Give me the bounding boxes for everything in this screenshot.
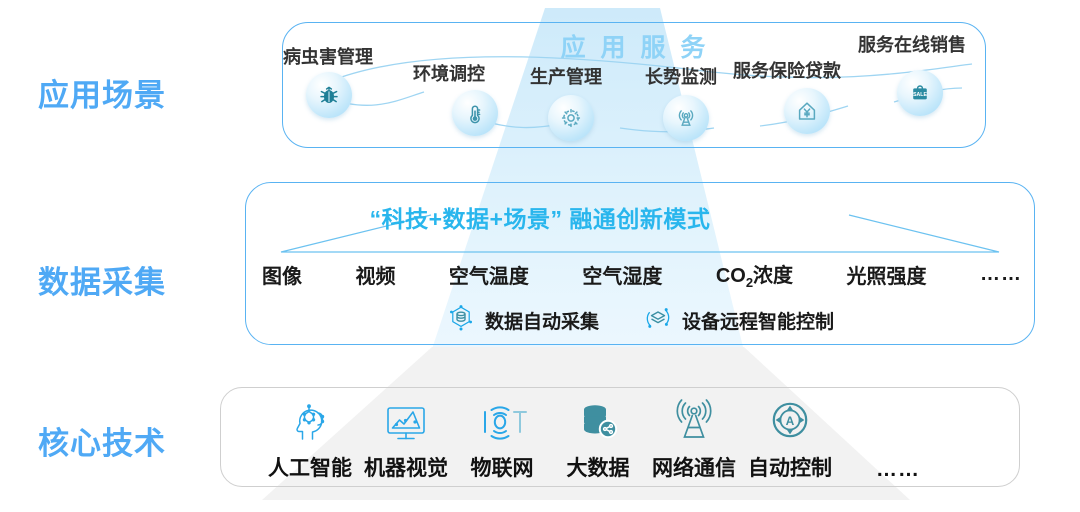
app-node-6-label: 服务在线销售 (858, 31, 966, 57)
tech-item-ai[interactable]: 人工智能 (262, 394, 358, 482)
data-feature-list: 数据自动采集 设备远程智能控制 (245, 300, 1035, 340)
data-item-ellipsis: …… (980, 263, 1022, 286)
tech-item-bigdata[interactable]: 大数据 (550, 394, 646, 482)
data-feature-1: 数据自动采集 (446, 303, 599, 338)
app-node-5-label: 服务保险贷款 (733, 57, 841, 83)
tech-item-autocontrol[interactable]: A 自动控制 (742, 394, 838, 482)
data-feature-1-label: 数据自动采集 (485, 307, 599, 334)
gear-icon (548, 95, 594, 141)
ai-head-icon (287, 394, 333, 446)
data-item: 视频 (355, 260, 395, 289)
tech-item-ellipsis: …… (838, 400, 958, 482)
tech-item-iot-label: 物联网 (471, 452, 534, 482)
tech-item-network[interactable]: 网络通信 (646, 394, 742, 482)
data-feature-2: 设备远程智能控制 (643, 303, 834, 338)
data-item-list: 图像 视频 空气温度 空气湿度 CO2浓度 光照强度 …… (262, 257, 1022, 291)
tech-item-vision[interactable]: 机器视觉 (358, 394, 454, 482)
tech-item-vision-label: 机器视觉 (364, 452, 448, 482)
tech-item-ellipsis-label: …… (876, 458, 920, 482)
data-item: 空气湿度 (582, 260, 662, 289)
svg-text:A: A (786, 414, 795, 428)
iot-icon (476, 394, 528, 446)
svg-text:SALE: SALE (913, 92, 927, 98)
row-label-data: 数据采集 (38, 257, 166, 302)
technology-item-list: 人工智能 机器视觉 (262, 396, 982, 482)
infographic-root: 应用场景 数据采集 核心技术 应 用 服 务 病虫害管理 (0, 0, 1080, 512)
data-item: 图像 (262, 260, 302, 289)
tech-item-bigdata-label: 大数据 (567, 452, 630, 482)
house-yuan-icon (784, 88, 830, 134)
data-panel-title: “科技+数据+场景” 融通创新模式 (0, 200, 1080, 234)
tech-item-ai-label: 人工智能 (268, 452, 352, 482)
signal-tower-icon (663, 95, 709, 141)
data-item-co2: CO2浓度 (716, 259, 793, 290)
row-label-technology: 核心技术 (38, 418, 166, 463)
row-label-application: 应用场景 (38, 70, 166, 115)
thermometer-icon (452, 90, 498, 136)
antenna-icon (668, 394, 720, 446)
bug-icon (306, 72, 352, 118)
app-node-1-label: 病虫害管理 (283, 43, 373, 69)
auto-control-icon: A (766, 394, 814, 446)
data-collect-icon (446, 303, 476, 338)
sale-tag-icon: SALE (897, 70, 943, 116)
tech-item-network-label: 网络通信 (652, 452, 736, 482)
data-item: 光照强度 (847, 260, 927, 289)
remote-layers-icon (643, 303, 673, 338)
data-item: 空气温度 (449, 260, 529, 289)
app-node-3-label: 生产管理 (530, 63, 602, 89)
app-node-2-label: 环境调控 (413, 60, 485, 86)
database-icon (574, 394, 622, 446)
tech-item-autocontrol-label: 自动控制 (748, 452, 832, 482)
monitor-chart-icon (381, 394, 431, 446)
data-feature-2-label: 设备远程智能控制 (682, 307, 834, 334)
app-node-4-label: 长势监测 (645, 63, 717, 89)
tech-item-iot[interactable]: 物联网 (454, 394, 550, 482)
